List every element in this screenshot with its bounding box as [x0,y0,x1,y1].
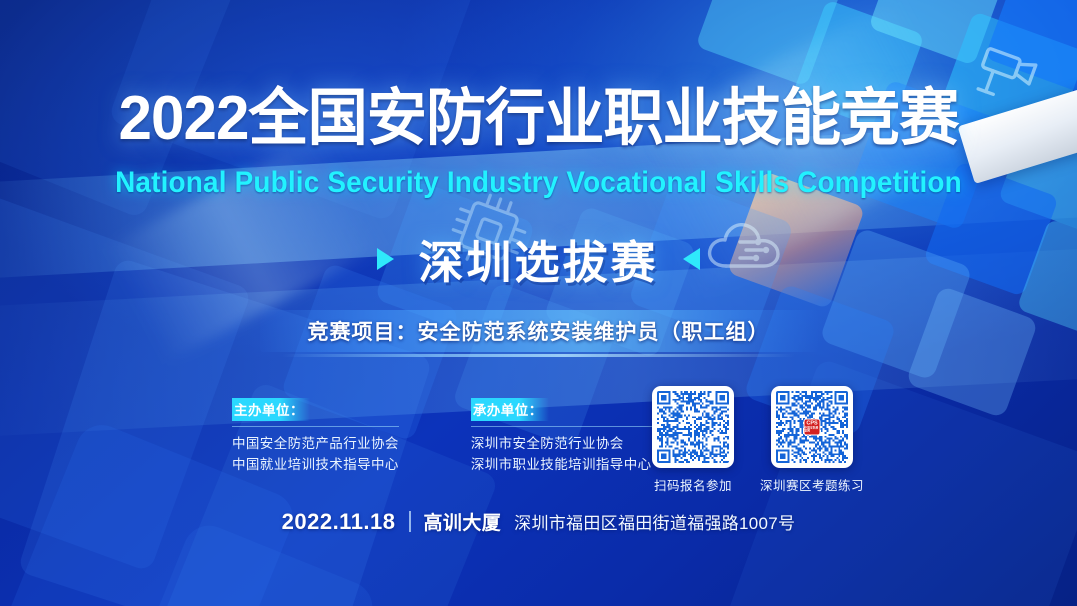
organizer-heading: 承办单位： [471,398,549,421]
subtitle: 深圳选拔赛 [418,226,658,291]
qr-item-register[interactable]: 扫码报名参加 [652,386,734,494]
organizer-line: 深圳市职业技能培训指导中心 [471,454,652,475]
organizer-heading: 主办单位： [232,398,310,421]
event-venue: 高训大厦 [424,508,502,535]
organizer-heading-underline [232,426,399,427]
poster-canvas: 2022全国安防行业职业技能竞赛 National Public Securit… [0,0,1077,606]
footer-divider [409,511,411,532]
subtitle-row: 深圳选拔赛 [0,226,1077,291]
qr-caption: 深圳赛区考题练习 [760,475,864,494]
qr-item-practice[interactable]: CPS 中国安防展览网 深圳赛区考题练习 [760,386,864,494]
organizer-line: 中国安全防范产品行业协会 [232,433,399,454]
triangle-left-icon [683,248,700,270]
organizer-block-co-host: 承办单位： 深圳市安全防范行业协会 深圳市职业技能培训指导中心 [471,398,652,476]
triangle-right-icon [377,248,394,270]
cps-logo-icon: CPS 中国安防展览网 [804,419,821,436]
organizer-line: 中国就业培训技术指导中心 [232,454,399,475]
qr-caption: 扫码报名参加 [654,475,732,494]
qr-code-section: 扫码报名参加 CPS 中国安防展览网 深圳赛区考题练习 [652,386,864,494]
organizer-heading-underline [471,426,652,427]
footer-info: 2022.11.18 高训大厦 深圳市福田区福田街道福强路1007号 [0,508,1077,535]
organizer-line: 深圳市安全防范行业协会 [471,433,652,454]
qr-code-card[interactable] [652,386,734,468]
organizer-block-host: 主办单位： 中国安全防范产品行业协会 中国就业培训技术指导中心 [232,398,399,476]
qr-code-card[interactable]: CPS 中国安防展览网 [771,386,853,468]
page-title: 2022全国安防行业职业技能竞赛 [16,88,1061,150]
event-date: 2022.11.18 [282,509,396,535]
page-title-english: National Public Security Industry Vocati… [38,166,1040,200]
qr-code-image[interactable] [657,391,729,463]
competition-project-label: 竞赛项目：安全防范系统安装维护员（职工组） [308,316,770,346]
organizers-section: 主办单位： 中国安全防范产品行业协会 中国就业培训技术指导中心 承办单位： 深圳… [232,398,652,476]
competition-project-banner: 竞赛项目：安全防范系统安装维护员（职工组） [260,310,818,352]
event-address: 深圳市福田区福田街道福强路1007号 [514,509,795,534]
cps-logo-subtext: 中国安防展览网 [805,428,820,433]
